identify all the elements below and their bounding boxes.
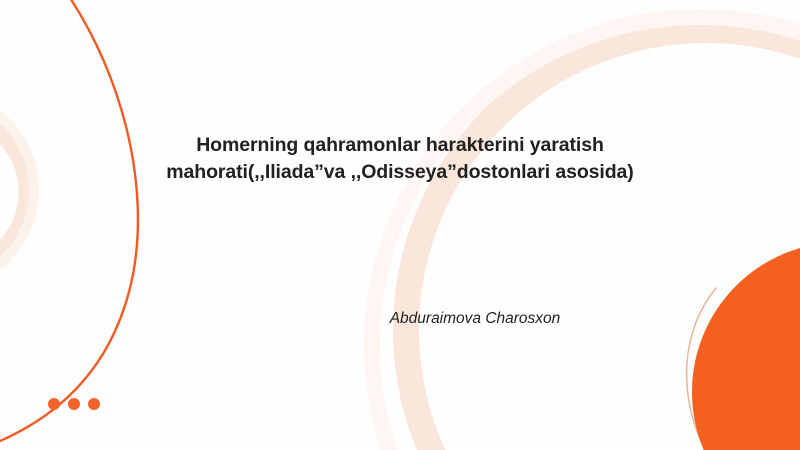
faint-ring-top-right-shape	[372, 17, 800, 450]
pale-ring-left-shape	[0, 114, 26, 270]
author-name: Abduraimova Charosxon	[275, 308, 675, 330]
pale-ring-top-right-shape	[406, 30, 800, 450]
orange-circle-bottom-right-shape	[692, 242, 800, 450]
title-line-1: Homerning qahramonlar harakterini yarati…	[110, 132, 690, 159]
author-block: Abduraimova Charosxon	[275, 308, 675, 330]
page-title: Homerning qahramonlar harakterini yarati…	[110, 132, 690, 186]
thin-pink-arc-bottom-right-shape	[687, 288, 716, 450]
dot-icon	[48, 398, 60, 410]
faint-ring-left-shape	[0, 94, 34, 286]
dot-icon	[68, 398, 80, 410]
orange-thin-arc-left-shape	[0, 0, 138, 446]
dot-icon	[88, 398, 100, 410]
title-line-2: mahorati(,,Iliada”va ,,Odisseya”dostonla…	[110, 159, 690, 186]
presentation-slide: Homerning qahramonlar harakterini yarati…	[0, 0, 800, 450]
decorative-background	[0, 0, 800, 450]
